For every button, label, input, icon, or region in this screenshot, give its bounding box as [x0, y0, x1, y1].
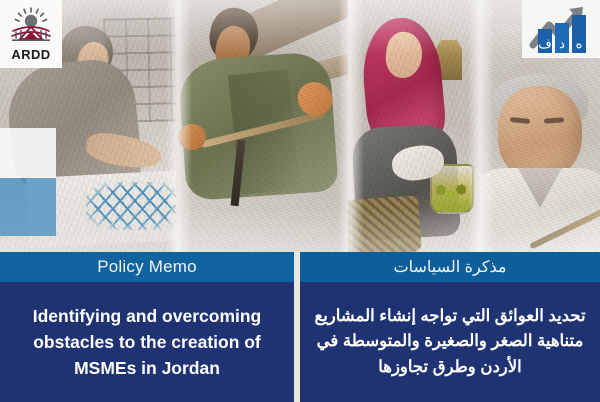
decor-square-white — [0, 128, 56, 178]
face-shape — [498, 86, 582, 180]
photo-panel-food-producer — [348, 0, 498, 252]
olives-shape — [434, 182, 468, 202]
hand-shape-2 — [178, 124, 206, 150]
basket-shape — [348, 195, 422, 252]
english-title-band: Identifying and overcoming obstacles to … — [0, 282, 294, 402]
growth-arrow-bars-icon: ف د ه — [525, 3, 597, 55]
column-divider — [294, 252, 300, 402]
policy-memo-cover: ARDD ف د ه Policy Memo مذكرة السياسات Id… — [0, 0, 600, 402]
arabic-title-band: تحديد العوائق التي تواجه إنشاء المشاريع … — [300, 282, 600, 402]
hadaf-logo[interactable]: ف د ه — [522, 0, 600, 58]
sketch-style-photo-collage — [0, 0, 600, 252]
english-label-band: Policy Memo — [0, 252, 294, 282]
english-title-text: Identifying and overcoming obstacles to … — [0, 282, 294, 402]
ardd-logo[interactable]: ARDD — [0, 0, 62, 68]
english-label-text: Policy Memo — [0, 252, 294, 282]
svg-text:ف: ف — [538, 36, 551, 51]
arabic-title-text: تحديد العوائق التي تواجه إنشاء المشاريع … — [300, 282, 600, 402]
svg-text:ه: ه — [576, 36, 583, 51]
arabic-label-band: مذكرة السياسات — [300, 252, 600, 282]
arabic-label-text: مذكرة السياسات — [300, 252, 600, 282]
decor-square-blue — [0, 178, 56, 236]
ardd-wordmark: ARDD — [11, 48, 50, 61]
photo-panel-craftsman — [176, 0, 362, 252]
embroidery-pattern — [86, 182, 184, 230]
sun-over-house-icon — [8, 7, 54, 47]
svg-text:د: د — [559, 36, 565, 51]
